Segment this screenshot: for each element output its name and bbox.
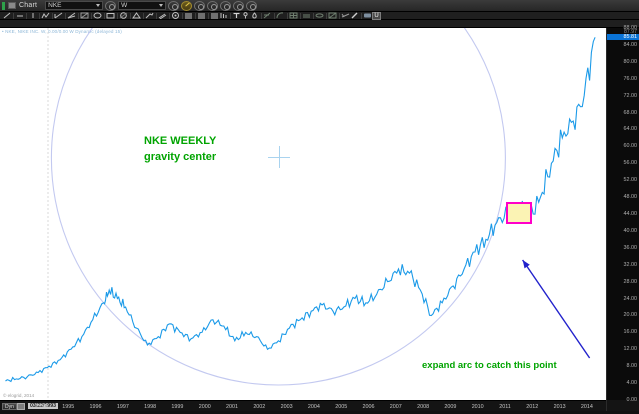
price-axis-tick: 0.00 [627,397,638,403]
note-tool-icon[interactable] [250,12,259,20]
price-canvas[interactable]: • NKE, NIKE INC. W, 0.00/0.00 W Dynamic … [0,28,606,400]
gravity-center-label-line1: NKE WEEKLY [144,134,216,148]
zoom-in-icon-button[interactable] [207,1,218,11]
date-axis-row: Dyn 03/22/1993 1994199519961997199819992… [0,400,639,411]
chart-application-window: Chart NKE W [0,0,639,414]
title-bar: Chart NKE W [0,0,639,12]
horizontal-line-tool-icon[interactable] [15,12,24,20]
gravity-center-label-line2: gravity center [144,150,216,164]
highlight-box[interactable] [506,202,532,225]
date-axis-tick: 2013 [554,404,566,410]
price-axis-tick: 36.00 [624,245,638,251]
link-icon-button[interactable] [246,1,257,11]
price-axis-tick: 52.00 [624,177,638,183]
price-axis-tick: 56.00 [624,160,638,166]
timeframe-value: W [121,2,157,9]
list-tool-icon[interactable] [184,12,193,20]
regression-tool-icon[interactable] [328,12,337,20]
chevron-down-icon-timeframe[interactable] [159,4,163,7]
timeframe-apply-button[interactable] [168,1,179,11]
gravity-center-crosshair[interactable] [268,146,290,168]
dyn-button[interactable]: Dyn [2,403,17,410]
text-tool-icon[interactable] [232,12,241,20]
rectangle-tool-icon[interactable] [106,12,115,20]
list-tool-icon-2[interactable] [197,12,206,20]
price-axis-tick: 16.00 [624,329,638,335]
date-axis-tick: 2004 [308,404,320,410]
window-title: Chart [19,2,37,9]
date-axis-tick: 1995 [62,404,74,410]
symbol-input[interactable]: NKE [45,1,103,10]
symbol-search-button[interactable] [105,1,116,11]
gravity-center-arc[interactable] [51,28,505,385]
calendar-icon[interactable] [17,403,25,410]
price-axis-tick: 68.00 [624,110,638,116]
comment-tool-icon[interactable] [363,12,372,20]
date-axis-tick: 1996 [90,404,102,410]
price-axis-tick: 4.00 [627,380,638,386]
date-axis-tick: 2011 [499,404,511,410]
date-axis-tick: 2012 [526,404,538,410]
flag-tool-icon[interactable] [241,12,250,20]
price-axis-tick: 80.00 [624,59,638,65]
price-axis-tick: 20.00 [624,312,638,318]
parallel-channel-tool-icon[interactable] [158,12,167,20]
price-axis-tick: 48.00 [624,194,638,200]
date-axis-tick: 1999 [171,404,183,410]
chevron-down-icon[interactable] [96,4,100,7]
date-axis-tick: 2003 [281,404,293,410]
window-grip [2,2,5,10]
target-icon-button[interactable] [233,1,244,11]
price-axis-tick: 8.00 [627,363,638,369]
price-axis-tick: 64.00 [624,126,638,132]
copyright-text: © elogrid, 2014 [3,393,34,398]
trendline-tool-icon[interactable] [2,12,11,20]
cycles-tool-icon[interactable] [171,12,180,20]
annotation-arrow[interactable] [523,260,590,358]
chart-area: • NKE, NIKE INC. W, 0.00/0.00 W Dynamic … [0,28,639,400]
date-axis-tick: 2005 [335,404,347,410]
price-axis-tick: 32.00 [624,262,638,268]
price-axis-tick: 24.00 [624,296,638,302]
date-axis-tick: 2008 [417,404,429,410]
freehand-tool-icon[interactable] [145,12,154,20]
drawing-toolbar-row-2 [0,20,639,28]
date-axis-tick: 2010 [472,404,484,410]
bars-tool-icon[interactable] [219,12,228,20]
date-axis-tick: 2002 [253,404,265,410]
vertical-line-tool-icon[interactable] [28,12,37,20]
pencil-icon-button[interactable] [181,1,192,11]
list-tool-icon-3[interactable] [210,12,219,20]
date-axis-tick: 2000 [199,404,211,410]
expand-arc-label: expand arc to catch this point [422,359,557,373]
fib-grid-tool-icon[interactable] [289,12,298,20]
date-axis-tick: 2009 [444,404,456,410]
pitchfork-tool-icon[interactable] [54,12,63,20]
measure-tool-icon[interactable] [341,12,350,20]
date-axis[interactable]: Dyn 03/22/1993 1994199519961997199819992… [0,400,606,411]
price-axis-tick: 88.00 [624,25,638,31]
fib-retracement-tool-icon[interactable] [263,12,272,20]
price-axis-tick: 40.00 [624,228,638,234]
fib-arc-tool-icon[interactable] [276,12,285,20]
symbol-value: NKE [48,2,94,9]
ellipse-tool-icon[interactable] [93,12,102,20]
price-axis-tick: 12.00 [624,346,638,352]
fan-tool-icon[interactable] [67,12,76,20]
date-axis-tick: 1997 [117,404,129,410]
date-axis-tick: 2006 [363,404,375,410]
fib-time-tool-icon[interactable] [302,12,311,20]
active-tool-button[interactable]: U [372,12,381,20]
date-axis-tick: 2007 [390,404,402,410]
date-axis-tick: 1998 [144,404,156,410]
timeframe-input[interactable]: W [118,1,166,10]
price-axis-tick: 60.00 [624,143,638,149]
circle-arc-tool-icon[interactable] [119,12,128,20]
price-axis-tick: 72.00 [624,93,638,99]
chart-window-icon [8,2,16,9]
fib-extension-tool-icon[interactable] [315,12,324,20]
zigzag-tool-icon[interactable] [41,12,50,20]
settings-icon-button[interactable] [220,1,231,11]
last-price-tag: 85.81 [607,34,639,40]
date-axis-tick: 2014 [581,404,593,410]
date-axis-tick: 1994 [35,404,47,410]
eraser-tool-icon[interactable] [350,12,359,20]
price-axis-tick: 28.00 [624,279,638,285]
gann-box-tool-icon[interactable] [80,12,89,20]
drawing-toolbar-row-1: U [0,12,639,20]
price-axis[interactable]: 87.97 88.0084.0080.0076.0072.0068.0064.0… [606,28,639,400]
zoom-out-icon-button[interactable] [194,1,205,11]
triangle-tool-icon[interactable] [132,12,141,20]
price-axis-tick: 84.00 [624,42,638,48]
price-axis-tick: 44.00 [624,211,638,217]
price-axis-tick: 76.00 [624,76,638,82]
date-axis-tick: 2001 [226,404,238,410]
